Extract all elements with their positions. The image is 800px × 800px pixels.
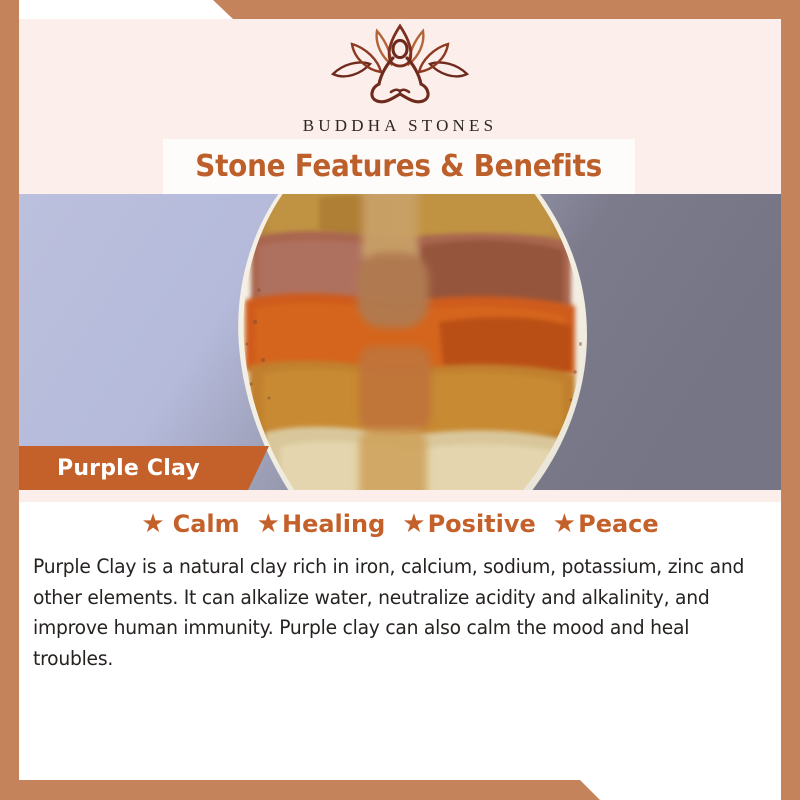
content-top-strip xyxy=(19,490,781,502)
feature-label: Calm xyxy=(173,510,240,538)
frame-top-band xyxy=(0,0,800,19)
feature-label: Positive xyxy=(428,510,536,538)
feature-item-positive: ★ Positive xyxy=(402,510,536,538)
frame-right-band xyxy=(781,0,800,800)
feature-label: Peace xyxy=(578,510,659,538)
description-text: Purple Clay is a natural clay rich in ir… xyxy=(33,552,747,674)
clay-powder-plate-photo xyxy=(19,194,781,490)
feature-list: ★ Calm ★ Healing ★ Positive ★ Peace xyxy=(19,510,781,538)
star-icon: ★ xyxy=(257,511,280,537)
star-icon: ★ xyxy=(402,511,425,537)
frame-left-band xyxy=(0,0,19,800)
content-panel: ★ Calm ★ Healing ★ Positive ★ Peace Purp… xyxy=(19,490,781,780)
title-banner: Stone Features & Benefits xyxy=(163,139,635,194)
star-icon: ★ xyxy=(141,511,164,537)
page-title: Stone Features & Benefits xyxy=(196,149,603,184)
feature-item-peace: ★ Peace xyxy=(553,510,659,538)
feature-label: Healing xyxy=(282,510,385,538)
lotus-meditation-icon xyxy=(325,22,475,104)
product-tag-label: Purple Clay xyxy=(57,456,200,481)
product-tag: Purple Clay xyxy=(19,446,269,490)
feature-item-calm: ★ Calm xyxy=(141,510,239,538)
brand-logo-block: BUDDHA STONES xyxy=(0,22,800,136)
star-icon: ★ xyxy=(553,511,576,537)
brand-wordmark: BUDDHA STONES xyxy=(0,116,800,136)
poster: BUDDHA STONES Stone Features & Benefits xyxy=(0,0,800,800)
frame-bottom-band xyxy=(0,780,800,800)
feature-item-healing: ★ Healing xyxy=(257,510,386,538)
